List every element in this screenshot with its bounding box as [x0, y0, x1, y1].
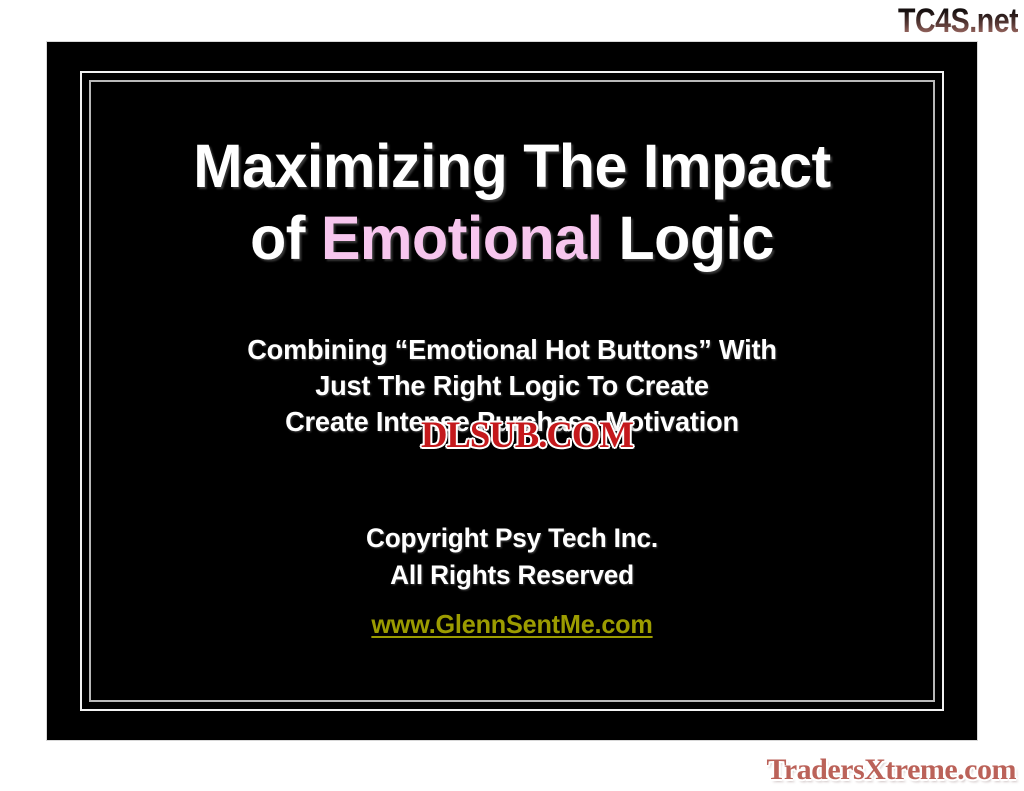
presentation-slide: Maximizing The Impact of Emotional Logic… [47, 42, 977, 740]
tradersxtreme-watermark: TradersXtreme.com [767, 753, 1016, 787]
slide-title-suffix: Logic [603, 204, 774, 272]
slide-title-line-2: of Emotional Logic [61, 202, 963, 275]
slide-subtitle-line-2: Just The Right Logic To Create [61, 372, 963, 400]
copyright-line-1: Copyright Psy Tech Inc. [61, 525, 963, 552]
slide-title-line-1: Maximizing The Impact [61, 130, 963, 203]
tc4s-watermark: TC4S.net [898, 2, 1018, 41]
slide-content: Maximizing The Impact of Emotional Logic… [47, 42, 977, 740]
website-link[interactable]: www.GlennSentMe.com [61, 609, 963, 640]
slide-title-accent-word: Emotional [321, 204, 603, 272]
dlsub-watermark: DLSUB.COM [421, 414, 633, 457]
slide-title-prefix: of [250, 204, 321, 272]
slide-subtitle-line-1: Combining “Emotional Hot Buttons” With [61, 336, 963, 364]
copyright-line-2: All Rights Reserved [61, 562, 963, 589]
